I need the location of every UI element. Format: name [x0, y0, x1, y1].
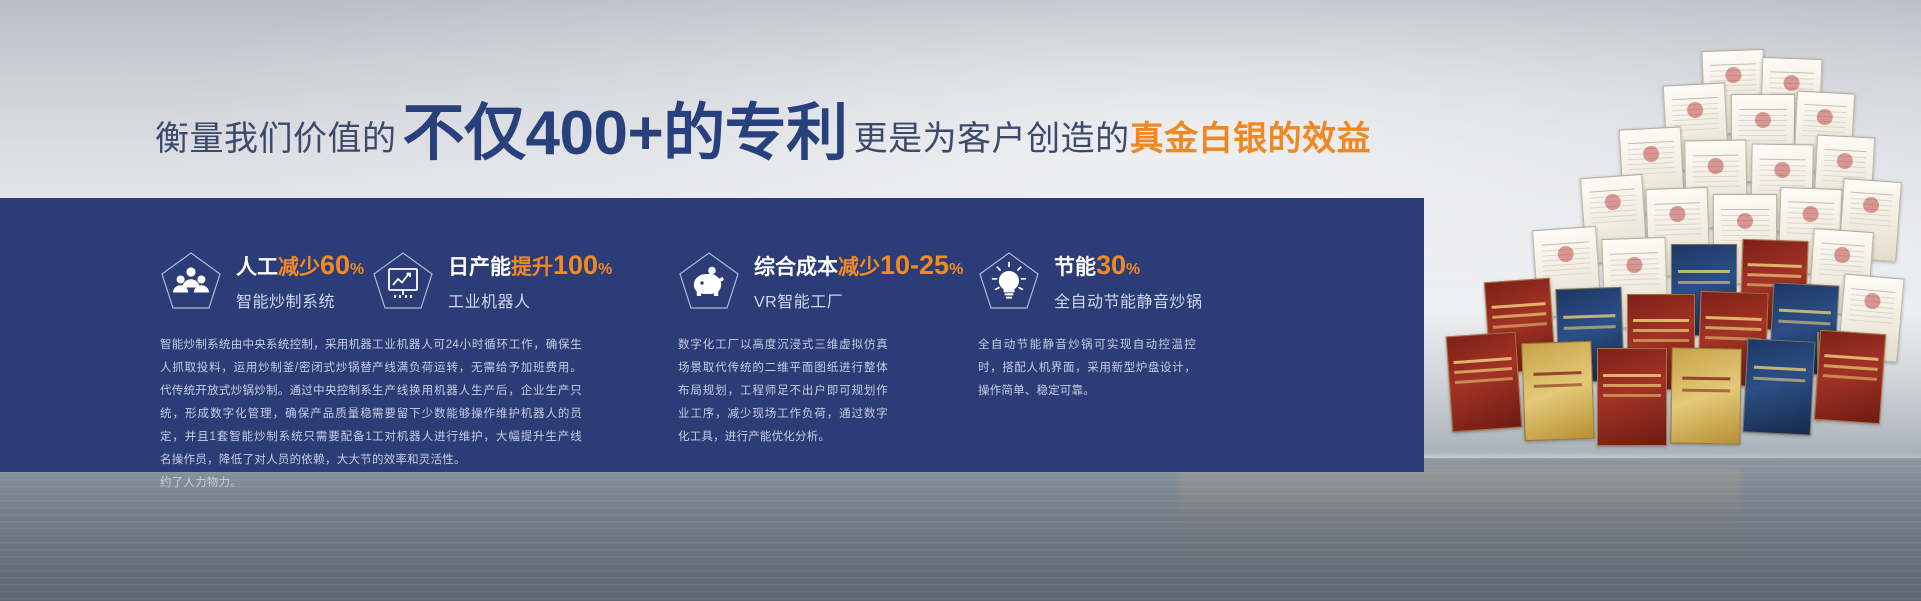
people-group-icon [160, 251, 222, 311]
feature-description: 全自动节能静音炒锅可实现自动控温控时，搭配人机界面，采用新型炉盘设计，操作简单、… [978, 334, 1196, 403]
feature-heading-text: 节能30% 全自动节能静音炒锅 [1054, 250, 1203, 311]
award-plaque-item [1597, 348, 1667, 446]
feature-item-cost: 综合成本减少10-25% VR智能工厂 数字化工厂以高度沉浸式三维虚拟仿真场景取… [630, 198, 930, 472]
feature-title-highlight: 减少 [838, 256, 880, 279]
feature-title-prefix: 综合成本 [754, 256, 838, 279]
feature-description: 数字化工厂以高度沉浸式三维虚拟仿真场景取代传统的二维平面图纸进行整体布局规划，工… [678, 334, 888, 449]
feature-title-prefix: 节能 [1054, 256, 1096, 279]
feature-list: 人工减少60% 智能炒制系统 智能炒制系统由中央系统控制，采用机器人抓取投料，运… [0, 198, 1424, 472]
feature-title-number: 30 [1096, 250, 1126, 280]
light-bulb-icon [978, 251, 1040, 311]
feature-item-labor: 人工减少60% 智能炒制系统 智能炒制系统由中央系统控制，采用机器人抓取投料，运… [0, 198, 330, 472]
chart-board-icon [372, 251, 434, 311]
piggy-bank-icon [678, 251, 740, 311]
feature-header: 综合成本减少10-25% VR智能工厂 [678, 250, 930, 312]
feature-header: 人工减少60% 智能炒制系统 [160, 250, 330, 312]
feature-title: 节能30% [1054, 250, 1203, 281]
feature-panel: 人工减少60% 智能炒制系统 智能炒制系统由中央系统控制，采用机器人抓取投料，运… [0, 198, 1424, 472]
feature-title-prefix: 日产能 [448, 256, 511, 279]
feature-title: 日产能提升100% [448, 250, 612, 281]
feature-heading-text: 日产能提升100% 工业机器人 [448, 250, 612, 311]
feature-description: 工业机器人可24小时循环工作，确保生产线满负荷运转，无需给予加班费用。生产线换用… [372, 334, 582, 472]
headline-middle: 更是为客户创造的 [854, 111, 1130, 160]
award-plaque-item [1446, 332, 1523, 433]
feature-item-capacity: 日产能提升100% 工业机器人 工业机器人可24小时循环工作，确保生产线满负荷运… [330, 198, 630, 472]
award-plaque-item [1814, 330, 1886, 424]
headline-strong: 不仅400+的专利 [403, 82, 848, 172]
certificate-reflection [1180, 468, 1740, 578]
page-title: 衡量我们价值的 不仅400+的专利 更是为客户创造的 真金白银的效益 [155, 78, 1371, 150]
headline-prefix: 衡量我们价值的 [155, 111, 397, 160]
award-plaque-item [1670, 347, 1742, 444]
feature-title-unit: % [1126, 261, 1140, 278]
feature-title-prefix: 人工 [236, 256, 278, 279]
feature-item-energy: 节能30% 全自动节能静音炒锅 全自动节能静音炒锅可实现自动控温控时，搭配人机界… [930, 198, 1260, 472]
feature-title-highlight: 减少 [278, 256, 320, 279]
feature-subtitle: 全自动节能静音炒锅 [1054, 288, 1203, 312]
feature-header: 节能30% 全自动节能静音炒锅 [978, 250, 1260, 312]
feature-title-number: 100 [553, 250, 598, 280]
feature-title-unit: % [598, 261, 612, 278]
feature-subtitle: 工业机器人 [448, 288, 612, 312]
headline-accent: 真金白银的效益 [1130, 111, 1372, 160]
promo-banner: 衡量我们价值的 不仅400+的专利 更是为客户创造的 真金白银的效益 [0, 0, 1921, 601]
award-plaque-item [1743, 338, 1816, 435]
feature-title-highlight: 提升 [511, 256, 553, 279]
feature-header: 日产能提升100% 工业机器人 [372, 250, 630, 312]
award-plaque-item [1521, 341, 1594, 441]
